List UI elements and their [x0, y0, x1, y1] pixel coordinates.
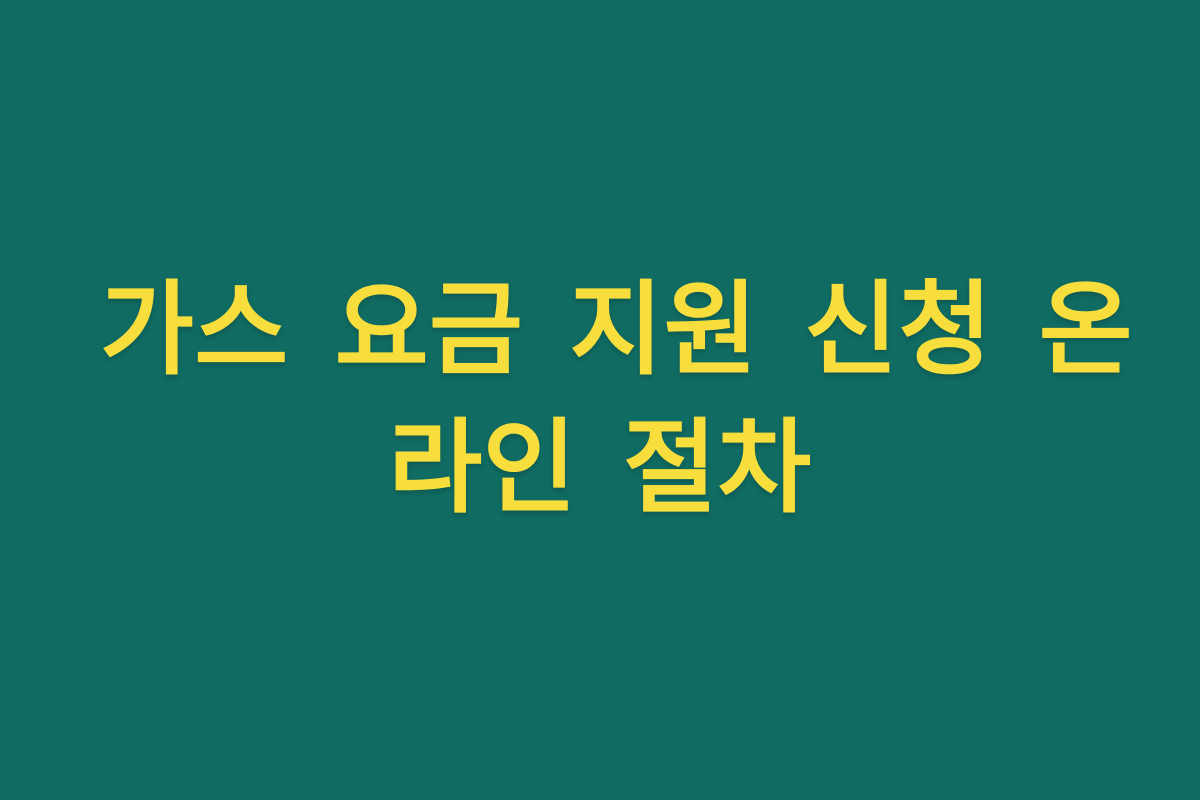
headline-line-2: 라인 절차 — [100, 400, 1100, 538]
thumbnail-card: 가스 요금 지원 신청 온 라인 절차 — [0, 0, 1200, 800]
headline-line-1: 가스 요금 지원 신청 온 — [100, 262, 1100, 400]
headline-block: 가스 요금 지원 신청 온 라인 절차 — [100, 262, 1100, 538]
